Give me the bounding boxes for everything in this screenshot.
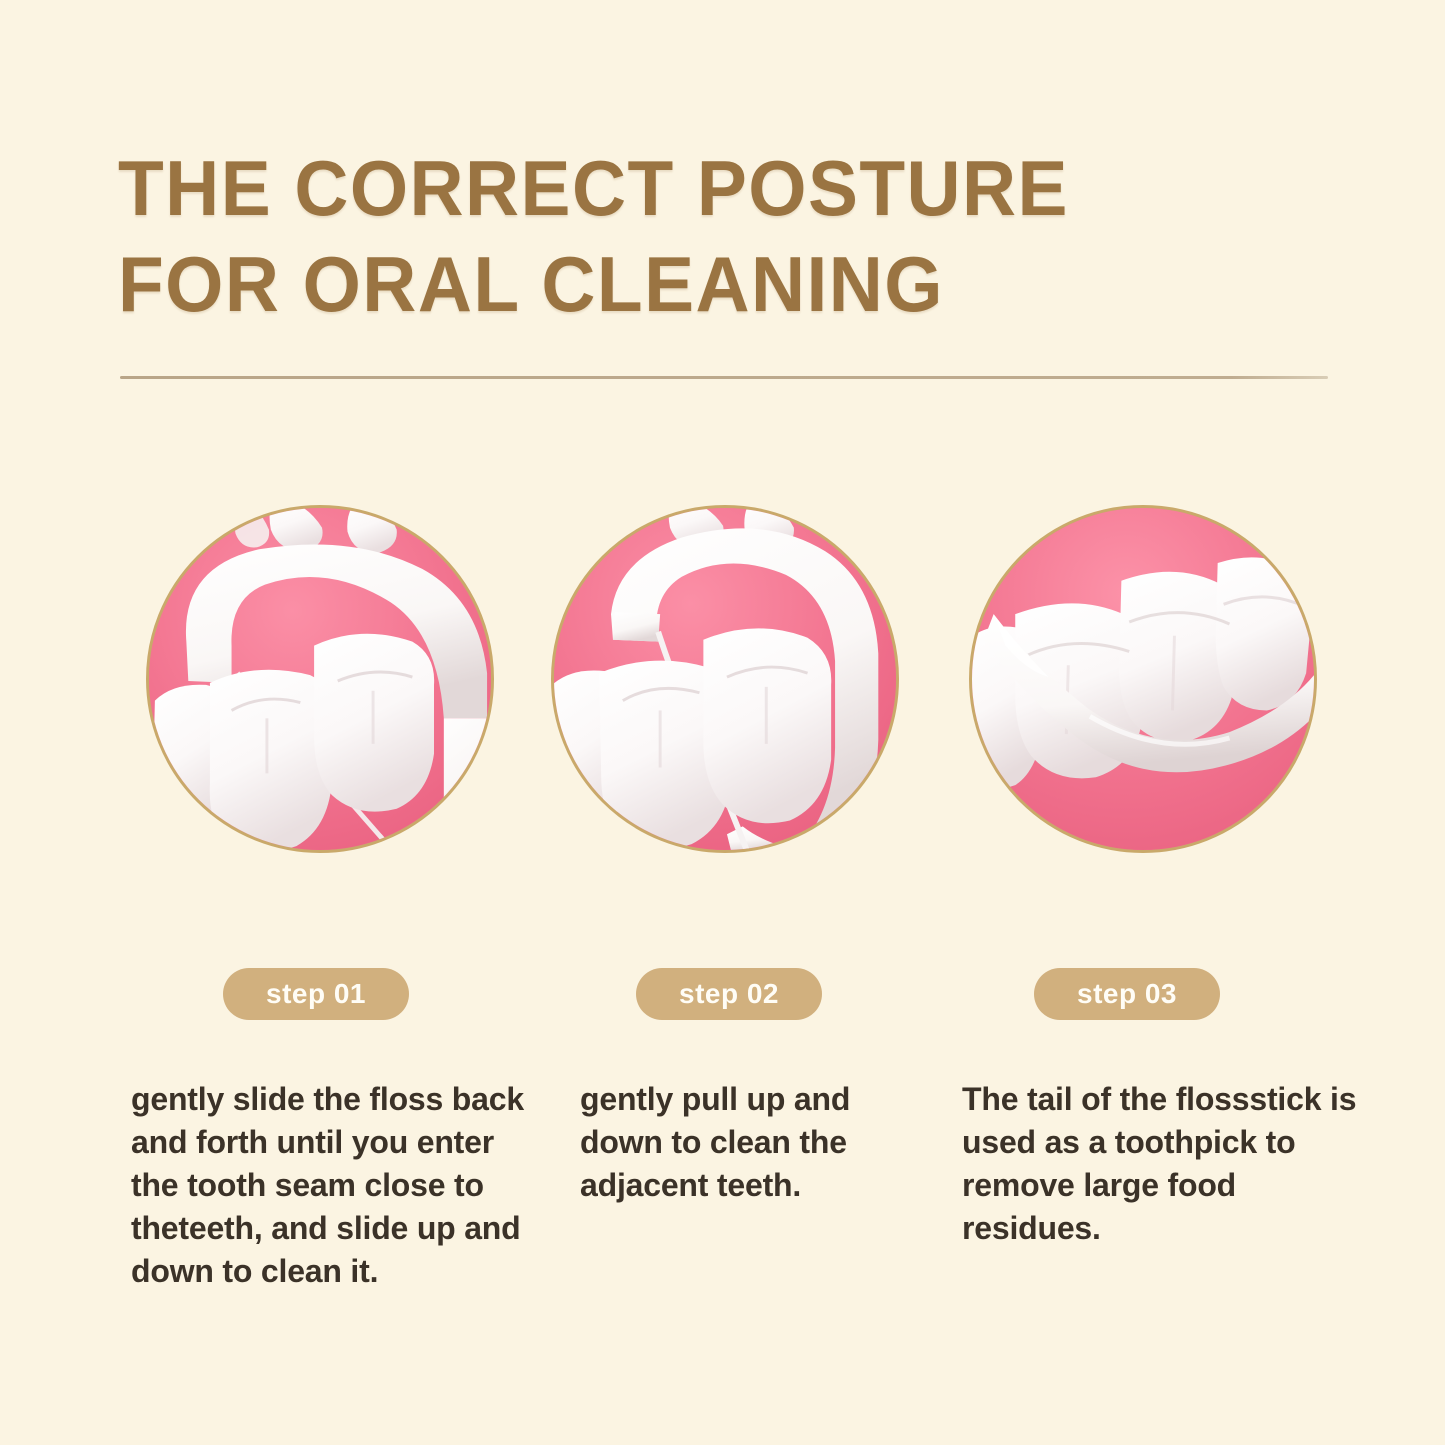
step-badges-row: step 01 step 02 step 03 — [0, 968, 1445, 1026]
step-3-illustration-circle — [969, 505, 1317, 853]
step-1-badge[interactable]: step 01 — [223, 968, 409, 1020]
floss-thread-pull-icon — [554, 508, 896, 850]
step-2-badge[interactable]: step 02 — [636, 968, 822, 1020]
step-2-figure — [551, 505, 899, 853]
step-1-figure — [146, 505, 494, 853]
page-title-line-2: FOR ORAL CLEANING — [118, 236, 1289, 332]
step-1-caption: gently slide the floss back and forth un… — [131, 1078, 531, 1293]
page-title-line-1: THE CORRECT POSTURE — [118, 140, 1289, 236]
toothpick-tail-icon — [972, 508, 1314, 850]
title-divider — [120, 376, 1328, 379]
step-2-caption: gently pull up and down to clean the adj… — [580, 1078, 910, 1207]
step-1-illustration-circle — [146, 505, 494, 853]
infographic-page: THE CORRECT POSTURE FOR ORAL CLEANING — [0, 0, 1445, 1445]
page-title: THE CORRECT POSTURE FOR ORAL CLEANING — [118, 140, 1338, 332]
step-3-caption: The tail of the flossstick is used as a … — [962, 1078, 1357, 1250]
step-3-badge[interactable]: step 03 — [1034, 968, 1220, 1020]
floss-pick-inserted-icon — [149, 508, 491, 850]
step-illustrations-row — [0, 505, 1445, 885]
step-2-illustration-circle — [551, 505, 899, 853]
step-3-figure — [969, 505, 1317, 853]
